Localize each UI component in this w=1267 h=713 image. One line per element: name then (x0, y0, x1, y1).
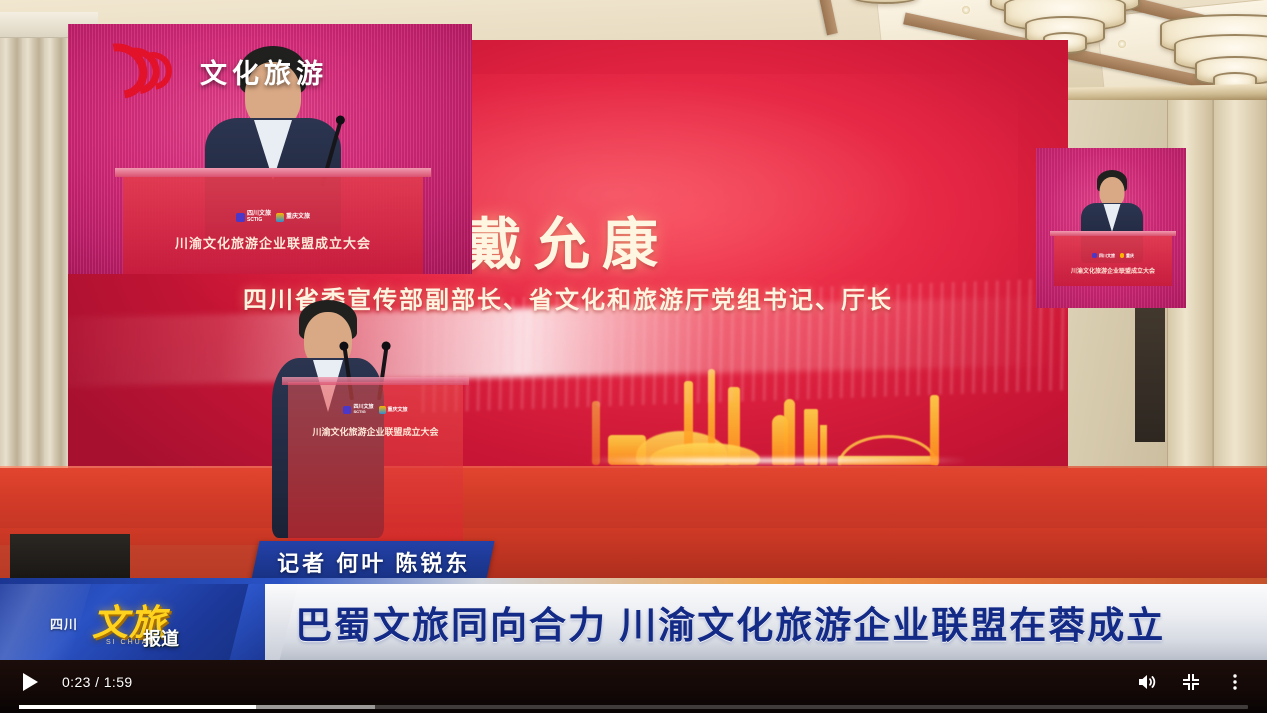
podium-banner-title: 川渝文化旅游企业联盟成立大会 (1054, 266, 1172, 275)
downlight (962, 6, 970, 14)
podium: 四川文旅 重庆 川渝文化旅游企业联盟成立大会 (1054, 234, 1172, 286)
program-logo: 四川 文旅 报道 SI CHUAN (48, 592, 248, 652)
volume-button[interactable] (1125, 660, 1169, 704)
podium-banner-title: 川渝文化旅游企业联盟成立大会 (123, 233, 423, 252)
led-panel-side: 四川文旅 重庆 川渝文化旅游企业联盟成立大会 (1036, 148, 1186, 308)
wall-pillar (1213, 100, 1267, 520)
program-logo-sub: 报道 (143, 625, 179, 651)
play-icon (23, 673, 38, 691)
podium: 四川文旅SCTIG 重庆文旅 川渝文化旅游企业联盟成立大会 (123, 174, 423, 274)
chandelier (820, 0, 950, 26)
player-control-bar[interactable]: 0:23 / 1:59 (0, 660, 1267, 713)
channel-logo-bug: 文化旅游 (90, 40, 328, 102)
play-button[interactable] (8, 660, 52, 704)
headline-block: 巴蜀文旅同向合力 川渝文化旅游企业联盟在蓉成立 (265, 584, 1267, 660)
led-speaker-title: 四川省委宣传部副部长、省文化和旅游厅党组书记、厅长 (68, 280, 1068, 315)
video-viewport[interactable]: 戴允康 四川省委宣传部副部长、省文化和旅游厅党组书记、厅长 四川文旅SCTIG (0, 0, 1267, 660)
podium-logo-row: 四川文旅SCTIG 重庆文旅 (288, 405, 463, 415)
kebab-menu-icon (1225, 672, 1245, 692)
channel-name: 文化旅游 (200, 52, 328, 91)
lower-third-accent-line (0, 578, 1267, 584)
podium-logo-row: 四川文旅 重庆 (1054, 253, 1172, 258)
video-player[interactable]: 戴允康 四川省委宣传部副部长、省文化和旅游厅党组书记、厅长 四川文旅SCTIG (0, 0, 1267, 713)
progress-played (19, 705, 256, 709)
channel-swirl-logo-icon (90, 40, 186, 102)
exit-fullscreen-icon (1180, 671, 1202, 693)
podium-logo-row: 四川文旅SCTIG 重庆文旅 (123, 211, 423, 223)
news-headline: 巴蜀文旅同向合力 川渝文化旅游企业联盟在蓉成立 (265, 595, 1165, 649)
more-options-button[interactable] (1213, 660, 1257, 704)
volume-icon (1135, 670, 1159, 694)
program-logo-region: 四川 (50, 614, 78, 633)
reporter-credit-text: 记者 何叶 陈锐东 (277, 546, 470, 578)
podium-banner-title: 川渝文化旅游企业联盟成立大会 (288, 425, 463, 438)
program-logo-pinyin: SI CHUAN (106, 639, 155, 646)
exit-fullscreen-button[interactable] (1169, 660, 1213, 704)
program-logo-block: 四川 文旅 报道 SI CHUAN (0, 584, 265, 660)
main-podium: 四川文旅SCTIG 重庆文旅 川渝文化旅游企业联盟成立大会 (288, 382, 463, 542)
time-display: 0:23 / 1:59 (62, 674, 133, 690)
progress-bar[interactable] (19, 705, 1248, 709)
lower-third-banner: 四川 文旅 报道 SI CHUAN 巴蜀文旅同向合力 川渝文化旅游企业联盟在蓉成… (0, 584, 1267, 660)
